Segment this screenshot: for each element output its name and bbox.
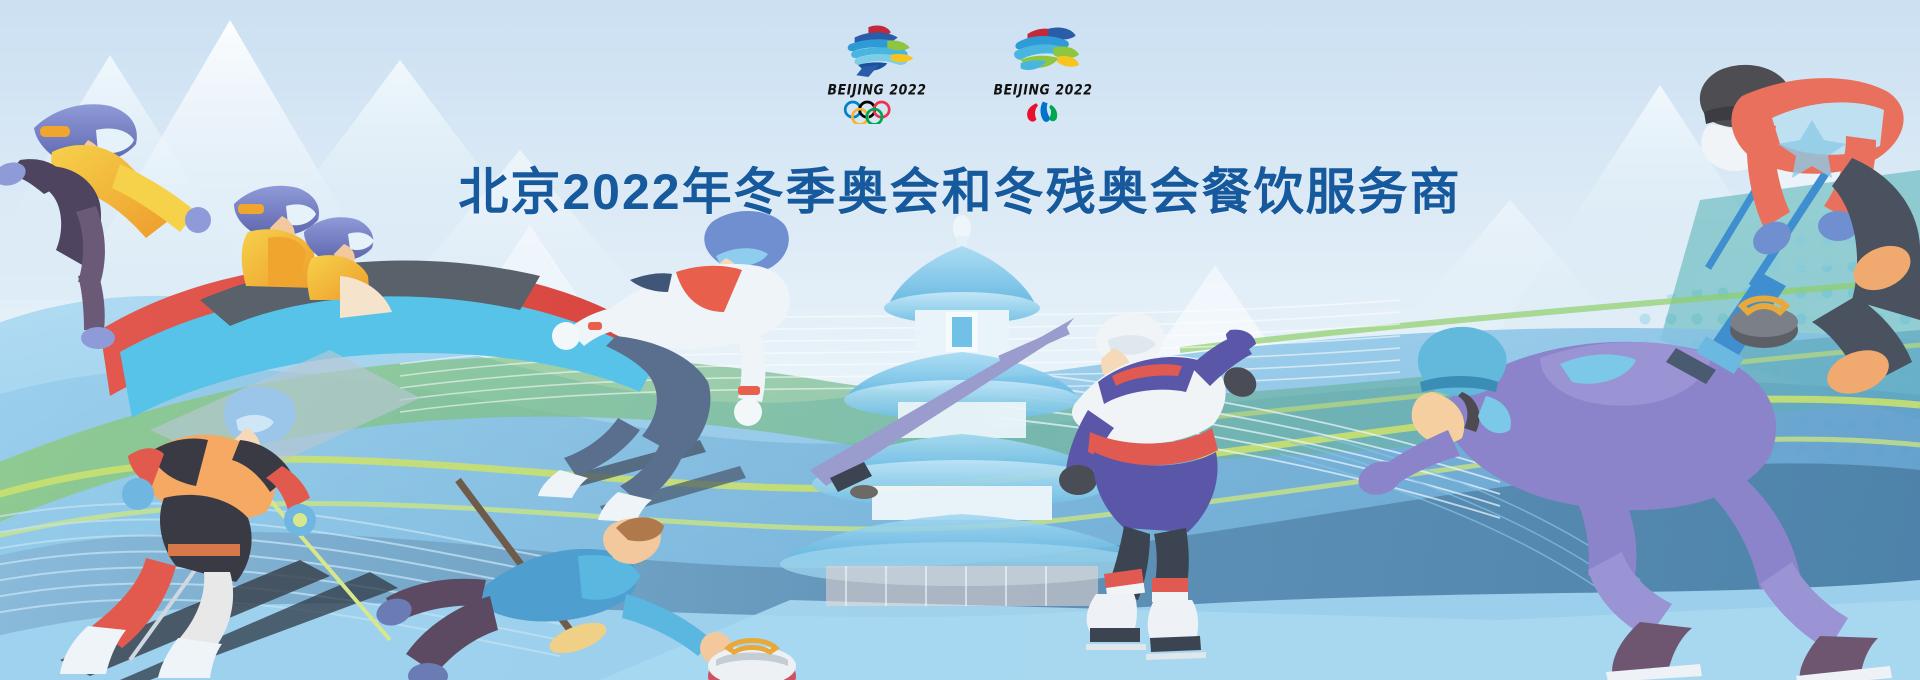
olympic-sponsor-banner: BEIJING 2022 [0, 0, 1920, 680]
beijing-2022-paralympic-emblem: BEIJING 2022 [989, 22, 1097, 124]
olympic-rings-icon [840, 100, 914, 124]
paralympic-wordmark: BEIJING 2022 [993, 81, 1092, 98]
olympic-wordmark: BEIJING 2022 [827, 81, 926, 98]
beijing-2022-olympic-emblem: BEIJING 2022 [823, 22, 931, 124]
paralympic-agitos-icon [1006, 100, 1080, 124]
emblem-row: BEIJING 2022 [0, 22, 1920, 124]
paralympic-winter-mark-icon [1000, 22, 1086, 80]
page-title: 北京2022年冬季奥会和冬残奥会餐饮服务商 [0, 152, 1920, 224]
olympic-winter-mark-icon [834, 22, 920, 80]
